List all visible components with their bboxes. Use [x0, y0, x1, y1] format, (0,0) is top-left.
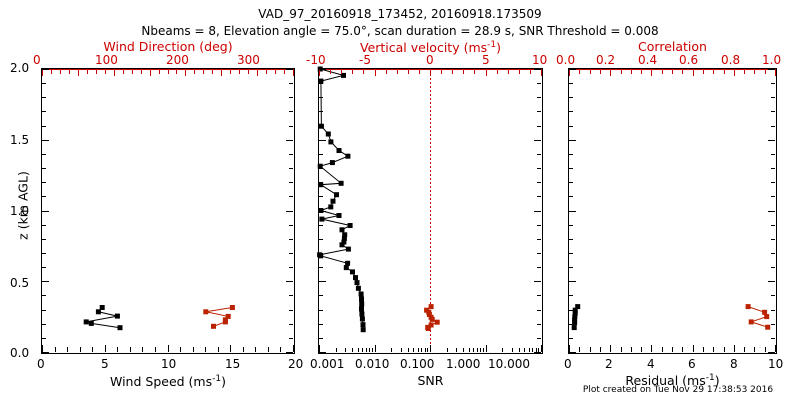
y-axis-tick-right [771, 324, 775, 325]
y-axis-tick-right [768, 281, 775, 282]
bottom-axis-tick [734, 345, 735, 352]
bottom-axis-tick [372, 348, 373, 352]
y-axis-tick-right [537, 111, 541, 112]
y-axis-tick-right [537, 182, 541, 183]
vvel-tick-m10: -10 [306, 54, 326, 66]
y-axis-tick-left [569, 182, 573, 183]
bottom-axis-tick [401, 348, 402, 352]
figure-title: VAD_97_20160918_173452, 20160918.173509 [0, 8, 800, 20]
vertical-velocity-axis-exp: -1 [487, 40, 496, 50]
y-axis-tick-right [289, 310, 293, 311]
bottom-axis-tick [67, 347, 68, 352]
y-axis-tick-left [42, 225, 46, 226]
y-axis-tick-right [771, 225, 775, 226]
y-axis-tick-right [771, 126, 775, 127]
bottom-axis-tick [369, 348, 370, 352]
wind-speed-tick-15: 15 [225, 358, 240, 370]
y-axis-tick-left [42, 267, 46, 268]
vertical-velocity-axis-label-text: Vertical velocity (ms [360, 40, 487, 55]
y-axis-tick-left [42, 310, 46, 311]
top-axis-tick [176, 70, 177, 74]
top-axis-tick [693, 70, 694, 76]
y-axis-tick-right [289, 83, 293, 84]
y-axis-tick-left [42, 211, 49, 212]
y-tick-label-2-0: 2.0 [10, 62, 29, 74]
top-axis-tick [194, 70, 195, 74]
y-axis-tick-right [534, 281, 541, 282]
vertical-velocity-series [424, 304, 440, 331]
wind-speed-axis-close: ) [221, 374, 226, 389]
top-axis-tick [105, 70, 106, 74]
y-axis-tick-right [534, 211, 541, 212]
bottom-axis-tick [724, 347, 725, 352]
bottom-axis-tick [430, 345, 431, 352]
wind-dir-tick-200: 200 [166, 54, 189, 66]
y-axis-tick-left [42, 97, 46, 98]
bottom-axis-tick [610, 345, 611, 352]
y-axis-tick-right [771, 83, 775, 84]
top-axis-tick [744, 70, 745, 74]
residual-tick-8: 8 [730, 358, 738, 370]
y-axis-tick-left [569, 69, 576, 70]
bottom-axis-tick [519, 348, 520, 352]
bottom-axis-tick [352, 348, 353, 352]
y-axis-tick-right [771, 168, 775, 169]
y-axis-tick-right [289, 225, 293, 226]
y-axis-tick-left [569, 267, 573, 268]
y-axis-tick-right [771, 338, 775, 339]
bottom-axis-tick [413, 348, 414, 352]
bottom-axis-tick [631, 347, 632, 352]
snr-axis-label: SNR [318, 375, 543, 388]
residual-tick-10: 10 [768, 358, 783, 370]
wind-speed-axis-label-text: Wind Speed (ms [110, 374, 212, 389]
top-axis-tick [651, 70, 652, 76]
y-axis-tick-left [319, 225, 323, 226]
residual-panel-plot-area [569, 69, 776, 353]
y-axis-tick-left [319, 140, 326, 141]
wind-speed-tick-0: 0 [37, 358, 45, 370]
bottom-axis-tick [651, 345, 652, 352]
y-axis-tick-left [42, 338, 46, 339]
snr-tick-0-001: 0.001 [310, 358, 344, 370]
y-axis-tick-right [289, 111, 293, 112]
wind-speed-tick-10: 10 [161, 358, 176, 370]
y-axis-tick-left [42, 168, 46, 169]
y-axis-tick-right [537, 126, 541, 127]
y-axis-tick-right [286, 69, 293, 70]
top-axis-tick [486, 70, 487, 76]
y-axis-tick-right [771, 196, 775, 197]
residual-tick-6: 6 [688, 358, 696, 370]
y-axis-tick-left [319, 211, 326, 212]
snr-series [317, 67, 366, 333]
top-axis-tick [114, 70, 115, 76]
snr-tick-0-010: 0.010 [355, 358, 389, 370]
top-axis-tick [141, 70, 142, 74]
top-axis-tick [96, 70, 97, 74]
y-axis-tick-right [286, 352, 293, 353]
y-axis-tick-left [319, 126, 323, 127]
bottom-axis-tick [218, 347, 219, 352]
bottom-axis-tick [483, 348, 484, 352]
y-axis-tick-right [289, 126, 293, 127]
wind-dir-tick-0: 0 [33, 54, 41, 66]
bottom-axis-tick [703, 347, 704, 352]
y-axis-tick-right [286, 281, 293, 282]
y-axis-tick-right [537, 295, 541, 296]
wind-direction-markers [203, 305, 235, 329]
bottom-axis-tick [641, 347, 642, 352]
top-axis-tick [600, 70, 601, 74]
vad-diagnostic-figure: VAD_97_20160918_173452, 20160918.173509 … [0, 0, 800, 400]
top-axis-tick [159, 70, 160, 74]
bottom-axis-tick [142, 347, 143, 352]
y-tick-label-0-0: 0.0 [10, 347, 29, 359]
bottom-axis-tick [502, 348, 503, 352]
y-axis-tick-left [319, 182, 323, 183]
y-axis-tick-left [569, 154, 573, 155]
snr-tick-1-000: 1.000 [446, 358, 480, 370]
vertical-velocity-axis-close: ) [496, 40, 501, 55]
top-axis-tick [452, 70, 453, 74]
y-axis-tick-right [771, 111, 775, 112]
vvel-tick-0: 0 [426, 54, 434, 66]
vertical-velocity-markers [424, 304, 440, 331]
y-tick-label-1-5: 1.5 [10, 134, 29, 146]
bottom-axis-tick [408, 348, 409, 352]
corr-tick-0-6: 0.6 [679, 54, 698, 66]
snr-tick-10-000: 10.000 [488, 358, 530, 370]
y-axis-tick-right [289, 168, 293, 169]
top-axis-tick [713, 70, 714, 74]
top-axis-tick [754, 70, 755, 74]
correlation-axis-label: Correlation [568, 41, 777, 54]
bottom-axis-tick [463, 348, 464, 352]
top-axis-tick [590, 70, 591, 74]
y-axis-tick-left [42, 126, 46, 127]
bottom-axis-tick [280, 347, 281, 352]
top-axis-tick [319, 70, 320, 76]
bottom-axis-tick [366, 348, 367, 352]
y-axis-tick-right [771, 295, 775, 296]
y-axis-tick-left [319, 324, 323, 325]
y-axis-tick-left [319, 83, 323, 84]
y-axis-tick-right [537, 168, 541, 169]
top-axis-tick [239, 70, 240, 74]
wind-dir-tick-300: 300 [237, 54, 260, 66]
bottom-axis-tick [92, 347, 93, 352]
y-axis-tick-left [42, 83, 46, 84]
wind-panel [41, 68, 295, 354]
bottom-axis-tick [336, 348, 337, 352]
y-axis-tick-left [42, 253, 46, 254]
bottom-axis-tick [662, 347, 663, 352]
y-axis-tick-left [42, 324, 46, 325]
wind-speed-tick-5: 5 [101, 358, 109, 370]
bottom-axis-tick [469, 348, 470, 352]
top-axis-tick [284, 70, 285, 74]
top-axis-tick [441, 70, 442, 74]
y-axis-tick-right [771, 154, 775, 155]
y-axis-tick-right [289, 239, 293, 240]
bottom-axis-tick [391, 348, 392, 352]
y-tick-label-1-0: 1.0 [10, 205, 29, 217]
y-axis-tick-right [771, 182, 775, 183]
top-axis-tick [430, 70, 431, 76]
bottom-axis-tick [425, 348, 426, 352]
bottom-axis-tick [155, 347, 156, 352]
top-axis-tick [352, 70, 353, 74]
top-axis-tick [579, 70, 580, 74]
bottom-axis-tick [230, 345, 231, 352]
top-axis-tick [610, 70, 611, 76]
y-axis-tick-left [569, 97, 573, 98]
top-axis-tick [508, 70, 509, 74]
top-axis-tick [463, 70, 464, 74]
bottom-axis-tick [532, 348, 533, 352]
top-axis-tick [631, 70, 632, 74]
y-axis-tick-left [319, 310, 323, 311]
y-axis-tick-left [569, 140, 576, 141]
bottom-axis-tick [713, 347, 714, 352]
y-axis-tick-right [537, 267, 541, 268]
bottom-axis-tick [362, 348, 363, 352]
y-axis-tick-right [768, 211, 775, 212]
y-axis-tick-left [42, 352, 49, 353]
top-axis-tick [42, 70, 43, 76]
bottom-axis-tick [744, 347, 745, 352]
bottom-axis-tick [130, 347, 131, 352]
top-axis-tick [724, 70, 725, 74]
residual-tick-0: 0 [564, 358, 572, 370]
figure-subtitle: Nbeams = 8, Elevation angle = 75.0°, sca… [0, 25, 800, 37]
bottom-axis-tick [754, 347, 755, 352]
y-axis-tick-right [537, 154, 541, 155]
y-axis-tick-left [42, 239, 46, 240]
bottom-axis-tick [477, 348, 478, 352]
top-axis-tick [474, 70, 475, 74]
y-axis-tick-left [42, 154, 46, 155]
y-axis-tick-left [569, 83, 573, 84]
bottom-axis-tick [205, 347, 206, 352]
bottom-axis-tick [268, 347, 269, 352]
bottom-axis-tick [672, 347, 673, 352]
y-axis-tick-left [319, 196, 323, 197]
snr-panel-plot-area [319, 69, 542, 353]
bottom-axis-tick [529, 348, 530, 352]
top-axis-tick [330, 70, 331, 74]
wind-speed-tick-20: 20 [288, 358, 303, 370]
y-axis-tick-right [289, 196, 293, 197]
y-axis-tick-left [569, 239, 573, 240]
y-axis-tick-right [771, 310, 775, 311]
wind-speed-axis-exp: -1 [212, 374, 221, 384]
bottom-axis-tick [421, 348, 422, 352]
bottom-axis-tick [693, 345, 694, 352]
bottom-axis-tick [775, 345, 776, 352]
top-axis-tick [266, 70, 267, 74]
bottom-axis-tick [524, 348, 525, 352]
bottom-axis-tick [473, 348, 474, 352]
y-axis-tick-right [289, 253, 293, 254]
bottom-axis-tick [193, 347, 194, 352]
bottom-axis-tick [42, 345, 43, 352]
bottom-axis-tick [590, 347, 591, 352]
y-axis-tick-right [537, 253, 541, 254]
y-axis-tick-left [42, 281, 49, 282]
top-axis-tick [734, 70, 735, 76]
y-axis-tick-right [534, 69, 541, 70]
y-axis-tick-left [569, 253, 573, 254]
top-axis-tick [185, 70, 186, 76]
y-axis-tick-left [319, 154, 323, 155]
y-axis-tick-right [289, 267, 293, 268]
top-axis-tick [230, 70, 231, 74]
bottom-axis-tick [243, 347, 244, 352]
bottom-axis-tick [538, 348, 539, 352]
wind-panel-plot-area [42, 69, 294, 353]
y-axis-tick-right [289, 182, 293, 183]
corr-tick-0-0: 0.0 [556, 54, 575, 66]
y-axis-tick-left [569, 196, 573, 197]
bottom-axis-tick [375, 345, 376, 352]
y-axis-tick-left [319, 352, 326, 353]
top-axis-tick [408, 70, 409, 74]
correlation-markers [746, 304, 771, 330]
y-axis-tick-right [537, 196, 541, 197]
top-axis-tick [78, 70, 79, 76]
top-axis-tick [765, 70, 766, 74]
y-axis-tick-left [42, 295, 46, 296]
bottom-axis-tick [600, 347, 601, 352]
top-axis-tick [541, 70, 542, 76]
y-axis-tick-left [319, 267, 323, 268]
bottom-axis-tick [319, 345, 320, 352]
bottom-axis-tick [293, 345, 294, 352]
bottom-axis-tick [255, 347, 256, 352]
bottom-axis-tick [569, 345, 570, 352]
bottom-axis-tick [55, 347, 56, 352]
y-axis-tick-right [289, 324, 293, 325]
y-axis-tick-right [771, 267, 775, 268]
vvel-tick-m5: -5 [359, 54, 371, 66]
top-axis-tick [203, 70, 204, 74]
y-axis-tick-right [537, 83, 541, 84]
y-axis-tick-right [534, 352, 541, 353]
top-axis-tick [386, 70, 387, 74]
bottom-axis-tick [345, 348, 346, 352]
y-axis-tick-left [319, 253, 323, 254]
y-axis-tick-left [42, 182, 46, 183]
top-axis-tick [569, 70, 570, 76]
bottom-axis-tick [456, 348, 457, 352]
top-axis-tick [363, 70, 364, 74]
top-axis-tick [69, 70, 70, 74]
bottom-axis-tick [418, 348, 419, 352]
y-axis-tick-left [569, 338, 573, 339]
corr-tick-0-2: 0.2 [596, 54, 615, 66]
corr-tick-0-4: 0.4 [638, 54, 657, 66]
top-axis-tick [672, 70, 673, 74]
top-axis-tick [275, 70, 276, 74]
corr-tick-0-8: 0.8 [721, 54, 740, 66]
y-axis-tick-right [537, 225, 541, 226]
bottom-axis-tick [358, 348, 359, 352]
y-axis-tick-left [42, 140, 49, 141]
vvel-tick-5: 5 [482, 54, 490, 66]
residual-markers [572, 304, 581, 330]
y-axis-tick-right [771, 97, 775, 98]
residual-tick-4: 4 [647, 358, 655, 370]
y-axis-tick-right [289, 338, 293, 339]
snr-markers [317, 67, 366, 333]
bottom-axis-tick [427, 348, 428, 352]
y-axis-tick-right [771, 253, 775, 254]
wind-direction-axis-label: Wind Direction (deg) [41, 41, 295, 54]
top-axis-tick [257, 70, 258, 76]
top-axis-tick [419, 70, 420, 74]
top-axis-tick [221, 70, 222, 76]
bottom-axis-tick [512, 348, 513, 352]
bottom-axis-tick [117, 347, 118, 352]
residual-series [572, 304, 581, 330]
y-axis-tick-left [42, 69, 49, 70]
snr-panel [318, 68, 543, 354]
y-axis-tick-left [569, 211, 576, 212]
y-axis-tick-right [537, 310, 541, 311]
y-axis-tick-left [569, 281, 576, 282]
y-axis-tick-left [42, 196, 46, 197]
correlation-series [746, 304, 771, 330]
top-axis-tick [60, 70, 61, 74]
bottom-axis-tick [621, 347, 622, 352]
y-axis-tick-left [319, 295, 323, 296]
top-axis-tick [682, 70, 683, 74]
vvel-tick-10: 10 [532, 54, 547, 66]
y-axis-tick-left [319, 281, 326, 282]
bottom-axis-tick [765, 347, 766, 352]
bottom-axis-tick [105, 345, 106, 352]
top-axis-tick [530, 70, 531, 74]
y-axis-tick-left [569, 168, 573, 169]
y-axis-tick-right [768, 352, 775, 353]
top-axis-tick [132, 70, 133, 74]
y-axis-tick-left [569, 352, 576, 353]
y-axis-tick-right [286, 140, 293, 141]
corr-tick-1-0: 1.0 [762, 54, 781, 66]
y-axis-tick-right [537, 97, 541, 98]
plot-created-timestamp: Plot created on Tue Nov 29 17:38:53 2016 [568, 386, 788, 395]
y-axis-tick-left [569, 225, 573, 226]
top-axis-tick [293, 70, 294, 76]
residual-panel [568, 68, 777, 354]
top-axis-tick [621, 70, 622, 74]
bottom-axis-tick [480, 348, 481, 352]
top-axis-tick [87, 70, 88, 74]
wind-direction-series [203, 305, 235, 329]
y-axis-tick-left [569, 324, 573, 325]
top-axis-tick [397, 70, 398, 74]
top-axis-tick [212, 70, 213, 74]
y-axis-tick-left [319, 168, 323, 169]
top-axis-tick [519, 70, 520, 74]
y-axis-tick-left [319, 97, 323, 98]
y-axis-tick-right [289, 154, 293, 155]
bottom-axis-tick [447, 348, 448, 352]
residual-axis-exp: -1 [706, 373, 715, 383]
bottom-axis-tick [541, 345, 542, 352]
